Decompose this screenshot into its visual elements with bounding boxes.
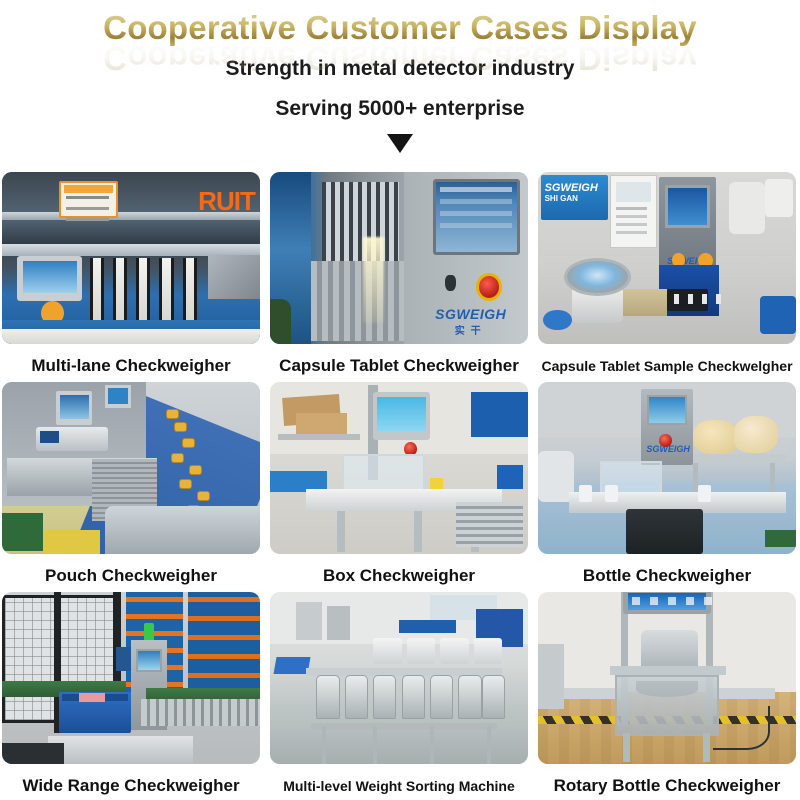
gallery-cell[interactable]: Wide Range Checkweigher [2,592,260,798]
case-caption: Box Checkweigher [270,554,528,588]
tile1-brand-text: RUIT [198,186,255,217]
conveyor-belt [713,688,775,698]
case-caption: Capsule Tablet Checkweigher [270,344,528,378]
tile3-banner-text: SGWEIGHSHI GAN [545,182,598,203]
capsule-tablet-sample-checkweigher-photo[interactable]: SGWEIGHSHI GAN SGWEIGH [538,172,796,344]
gallery-cell[interactable]: Rotary Bottle Checkweigher [538,592,796,798]
gallery-cell[interactable]: RUIT Multi-lane Checkweigher [2,172,260,378]
page-root: Cooperative Customer Cases Display Coope… [0,0,800,800]
page-title-wrap: Cooperative Customer Cases Display Coope… [103,6,697,50]
hmi-screen-icon [56,391,92,425]
multi-level-weight-sorting-machine-photo[interactable] [270,592,528,764]
gallery-cell[interactable]: Multi-level Weight Sorting Machine [270,592,528,798]
case-caption: Multi-lane Checkweigher [2,344,260,378]
hmi-screen-icon [433,179,521,255]
gallery-cell[interactable]: Pouch Checkweigher [2,382,260,588]
case-caption: Capsule Tablet Sample Checkwelgher [538,344,796,378]
wide-range-checkweigher-photo[interactable] [2,592,260,764]
gallery-cell[interactable]: Box Checkweigher [270,382,528,588]
bottle-checkweigher-photo[interactable]: SGWEIGH [538,382,796,554]
cases-gallery: RUIT Multi-lane Checkweigher [0,172,800,798]
hmi-screen-icon [665,185,710,228]
subtitle-line-2: Serving 5000+ enterprise [0,92,800,126]
case-caption: Wide Range Checkweigher [2,764,260,798]
case-caption: Multi-level Weight Sorting Machine [270,764,528,798]
case-caption: Pouch Checkweigher [2,554,260,588]
keypad-icon [667,289,708,311]
header: Cooperative Customer Cases Display Coope… [0,0,800,153]
page-title: Cooperative Customer Cases Display [103,6,697,50]
hmi-screen-icon [17,256,82,301]
gallery-row: RUIT Multi-lane Checkweigher [0,172,800,378]
expo-banner: SGWEIGHSHI GAN [541,175,608,220]
gallery-cell[interactable]: SGWEIGH实干 Capsule Tablet Checkweigher [270,172,528,378]
gallery-cell[interactable]: SGWEIGH Bottle Checkweigher [538,382,796,588]
tile3-banner-sub: SHI GAN [545,194,598,203]
hmi-screen-icon [623,592,711,614]
conveyor-belt [564,688,621,698]
triangle-down-icon [387,134,413,153]
hmi-screen-icon [136,649,162,672]
case-caption: Bottle Checkweigher [538,554,796,588]
tile2-brand-cn: 实干 [435,322,506,337]
gallery-cell[interactable]: SGWEIGHSHI GAN SGWEIGH Capsule Tablet Sa… [538,172,796,378]
rotary-bottle-checkweigher-photo[interactable] [538,592,796,764]
capsule-tablet-checkweigher-photo[interactable]: SGWEIGH实干 [270,172,528,344]
hmi-screen-icon [647,395,686,425]
vibratory-bowl-feeder [564,258,631,296]
gallery-row: Pouch Checkweigher [0,382,800,588]
cardboard-box [296,413,348,434]
gallery-row: Wide Range Checkweigher [0,592,800,798]
warning-label-icon [59,181,118,219]
tile2-brand-text: SGWEIGH实干 [435,306,506,337]
pouch-checkweigher-photo[interactable] [2,382,260,554]
multi-lane-checkweigher-photo[interactable]: RUIT [2,172,260,344]
subtitle-line-1: Strength in metal detector industry [0,52,800,86]
case-caption: Rotary Bottle Checkweigher [538,764,796,798]
box-checkweigher-photo[interactable] [270,382,528,554]
hmi-screen-icon [373,392,430,440]
emergency-stop-icon [476,273,502,301]
